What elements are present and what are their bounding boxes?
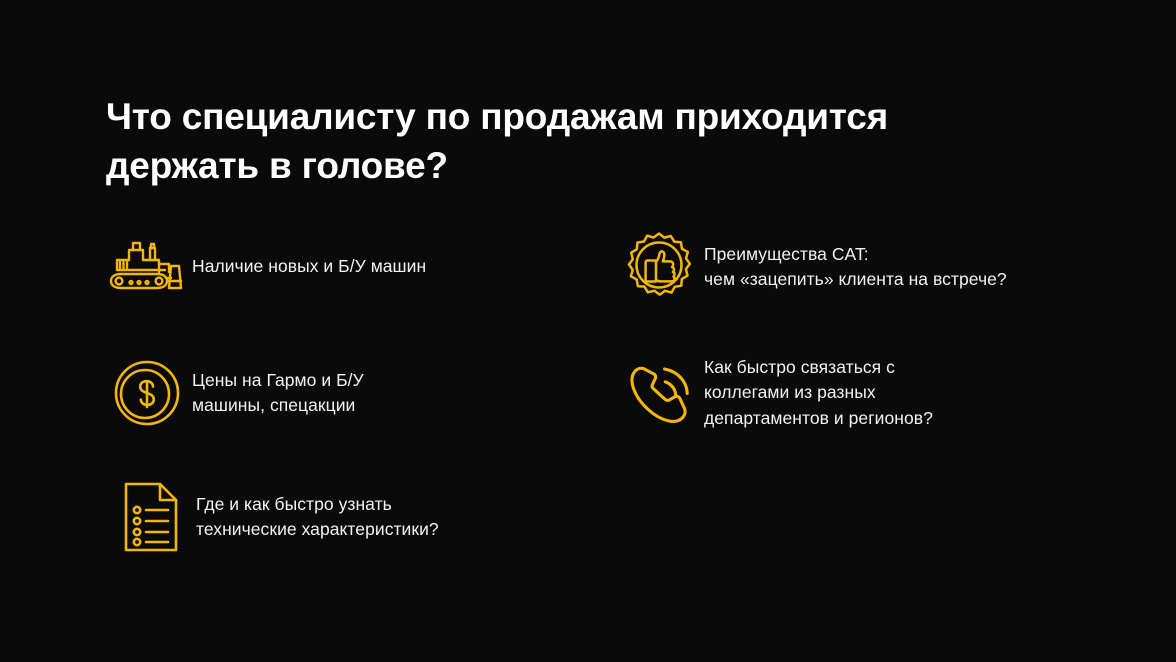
- slide-root: Что специалисту по продажам приходится д…: [0, 0, 1176, 662]
- feature-item-label: Преимущества CAT: чем «зацепить» клиента…: [702, 242, 1007, 293]
- feature-item-cat-advantages: Преимущества CAT: чем «зацепить» клиента…: [616, 224, 1007, 310]
- feature-item-machines-availability: Наличие новых и Б/У машин: [104, 224, 426, 310]
- feature-item-specifications: Где и как быстро узнать технические хара…: [108, 474, 439, 560]
- phone-call-icon: [616, 350, 702, 436]
- feature-item-label: Наличие новых и Б/У машин: [190, 254, 426, 279]
- feature-item-contact-colleagues: Как быстро связаться с коллегами из разн…: [616, 350, 933, 436]
- feature-item-prices: Цены на Гармо и Б/У машины, спецакции: [104, 350, 364, 436]
- feature-item-label: Цены на Гармо и Б/У машины, спецакции: [190, 368, 364, 419]
- checklist-document-icon: [108, 474, 194, 560]
- page-title: Что специалисту по продажам приходится д…: [106, 93, 1026, 191]
- feature-item-label: Как быстро связаться с коллегами из разн…: [702, 355, 933, 431]
- coin-dollar-icon: [104, 350, 190, 436]
- bulldozer-icon: [104, 224, 190, 310]
- thumbs-up-badge-icon: [616, 224, 702, 310]
- feature-item-label: Где и как быстро узнать технические хара…: [194, 492, 439, 543]
